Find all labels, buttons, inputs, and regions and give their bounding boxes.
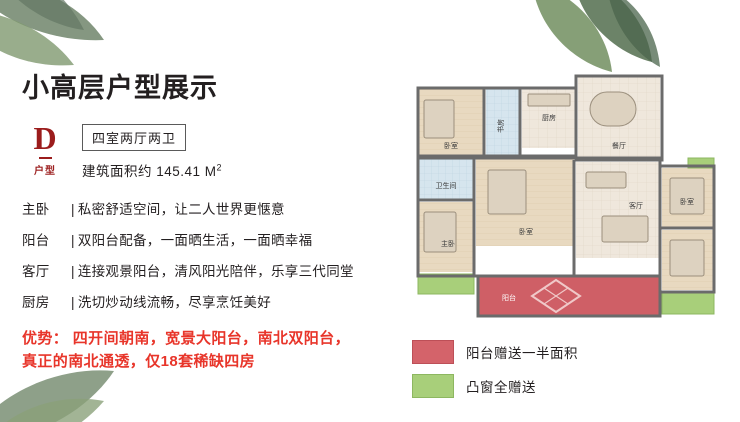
highlight-line-1: 优势： 四开间朝南，宽景大阳台，南北双阳台， bbox=[22, 327, 412, 350]
floor-plan-image: 卧室 书房 厨房 餐厅 卫生间 卧室 客厅 卧室 主卧 阳台 bbox=[404, 48, 722, 338]
feature-row: 阳台 | 双阳台配备，一面晒生活，一面晒幸福 bbox=[22, 229, 412, 249]
room-label-bedroom-right: 卧室 bbox=[680, 197, 694, 206]
legend-label-balcony: 阳台赠送一半面积 bbox=[466, 342, 578, 362]
feature-label: 主卧 bbox=[22, 198, 68, 218]
info-column: 小高层户型展示 D 户型 四室两厅两卫 建筑面积约 145.41 M2 主卧 |… bbox=[22, 74, 412, 373]
floor-plan-svg: 卧室 书房 厨房 餐厅 卫生间 卧室 客厅 卧室 主卧 阳台 bbox=[404, 48, 722, 338]
room-label-living: 客厅 bbox=[629, 201, 643, 210]
room-spec-badge: 四室两厅两卫 bbox=[82, 124, 186, 151]
feature-label: 客厅 bbox=[22, 260, 68, 280]
unit-type-badge: D 户型 bbox=[22, 122, 72, 177]
highlight-line-2: 真正的南北通透，仅18套稀缺四房 bbox=[22, 350, 412, 373]
area-unit-exponent: 2 bbox=[217, 162, 223, 172]
unit-type-letter: D bbox=[22, 122, 68, 154]
feature-row: 客厅 | 连接观景阳台，清风阳光陪伴，乐享三代同堂 bbox=[22, 260, 412, 280]
feature-separator: | bbox=[68, 202, 78, 217]
feature-row: 主卧 | 私密舒适空间，让二人世界更惬意 bbox=[22, 198, 412, 218]
floor-plan-poster: 小高层户型展示 D 户型 四室两厅两卫 建筑面积约 145.41 M2 主卧 |… bbox=[0, 0, 740, 422]
feature-label: 厨房 bbox=[22, 291, 68, 311]
legend-row-bay-window: 凸窗全赠送 bbox=[412, 374, 672, 398]
room-label-balcony: 阳台 bbox=[502, 293, 516, 302]
feature-separator: | bbox=[68, 295, 78, 310]
feature-separator: | bbox=[68, 233, 78, 248]
feature-text: 私密舒适空间，让二人世界更惬意 bbox=[78, 198, 412, 218]
feature-text: 双阳台配备，一面晒生活，一面晒幸福 bbox=[78, 229, 412, 249]
legend-swatch-bay-window bbox=[412, 374, 454, 398]
feature-text: 洗切炒动线流畅，尽享烹饪美好 bbox=[78, 291, 412, 311]
room-label-master-bedroom: 主卧 bbox=[441, 239, 455, 248]
feature-label: 阳台 bbox=[22, 229, 68, 249]
room-label-bedroom-mid: 卧室 bbox=[519, 227, 533, 236]
room-label-bathroom-left: 卫生间 bbox=[436, 181, 457, 190]
legend-row-balcony: 阳台赠送一半面积 bbox=[412, 340, 672, 364]
legend-swatch-balcony bbox=[412, 340, 454, 364]
page-title: 小高层户型展示 bbox=[22, 74, 412, 104]
room-label-kitchen: 厨房 bbox=[542, 113, 556, 122]
room-label-study: 书房 bbox=[496, 119, 505, 133]
unit-type-row: D 户型 四室两厅两卫 建筑面积约 145.41 M2 bbox=[22, 122, 412, 180]
legend: 阳台赠送一半面积 凸窗全赠送 bbox=[412, 340, 672, 408]
room-label-bedroom-top-left: 卧室 bbox=[444, 141, 458, 150]
legend-label-bay-window: 凸窗全赠送 bbox=[466, 376, 536, 396]
badge-divider bbox=[39, 157, 52, 159]
area-value: 建筑面积约 145.41 M bbox=[82, 164, 217, 179]
feature-row: 厨房 | 洗切炒动线流畅，尽享烹饪美好 bbox=[22, 291, 412, 311]
room-label-dining: 餐厅 bbox=[612, 141, 626, 150]
unit-type-details: 四室两厅两卫 建筑面积约 145.41 M2 bbox=[72, 122, 222, 180]
feature-list: 主卧 | 私密舒适空间，让二人世界更惬意 阳台 | 双阳台配备，一面晒生活，一面… bbox=[22, 198, 412, 311]
unit-type-sub-label: 户型 bbox=[22, 162, 68, 177]
feature-separator: | bbox=[68, 264, 78, 279]
feature-text: 连接观景阳台，清风阳光陪伴，乐享三代同堂 bbox=[78, 260, 412, 280]
highlight-block: 优势： 四开间朝南，宽景大阳台，南北双阳台， 真正的南北通透，仅18套稀缺四房 bbox=[22, 327, 412, 374]
area-text: 建筑面积约 145.41 M2 bbox=[82, 160, 222, 180]
